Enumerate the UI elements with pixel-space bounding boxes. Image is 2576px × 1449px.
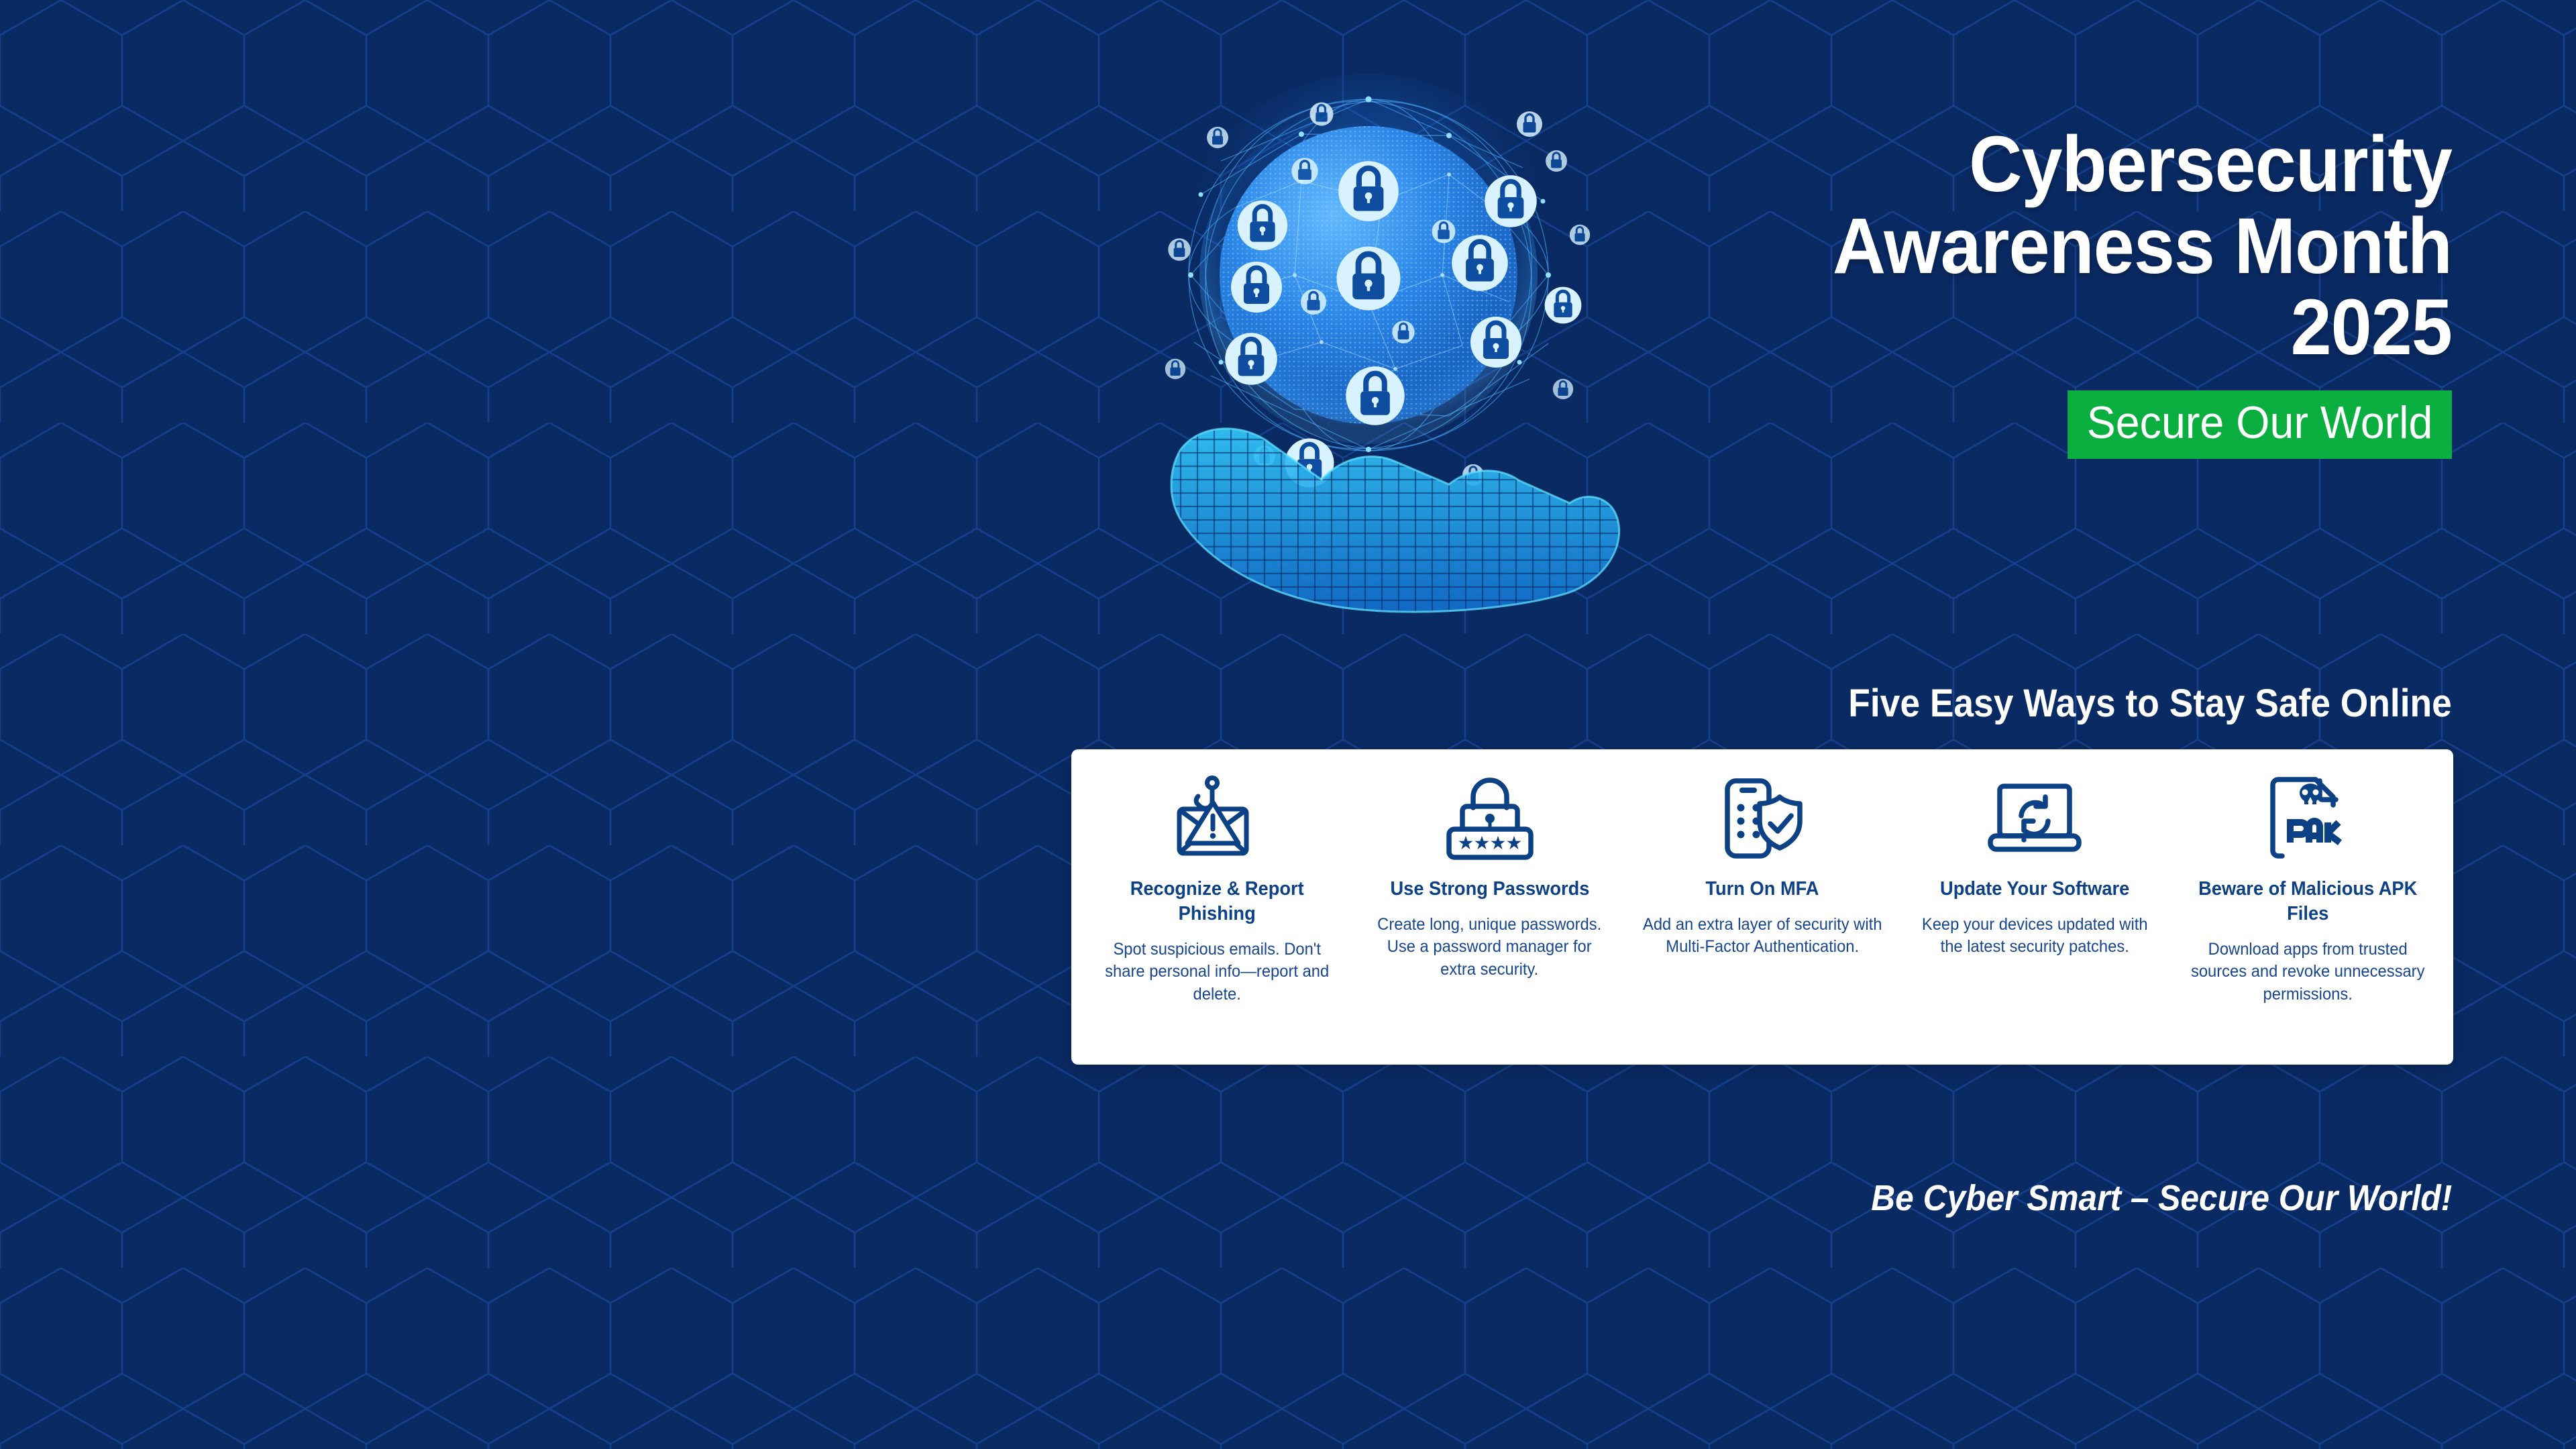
tip-title: Recognize & Report Phishing [1097, 877, 1336, 926]
tip-title: Turn On MFA [1705, 877, 1819, 902]
padlock-password-stars-icon [1446, 768, 1534, 869]
headline-line-1: Cybersecurity [1516, 124, 2452, 206]
phone-shield-check-icon [1718, 768, 1807, 869]
apk-file-skull-icon [2267, 768, 2348, 869]
tips-card: Recognize & Report Phishing Spot suspici… [1071, 749, 2453, 1065]
tip-item-phishing: Recognize & Report Phishing Spot suspici… [1081, 768, 1353, 1051]
headline-line-2: Awareness Month [1516, 206, 2452, 288]
tip-description: Download apps from trusted sources and r… [2187, 938, 2428, 1006]
secure-our-world-badge: Secure Our World [2068, 390, 2452, 459]
tip-description: Create long, unique passwords. Use a pas… [1369, 914, 1610, 981]
phishing-email-warning-icon [1174, 768, 1260, 869]
tip-item-apk: Beware of Malicious APK Files Download a… [2171, 768, 2444, 1051]
tip-description: Keep your devices updated with the lates… [1915, 914, 2155, 959]
headline-line-3: 2025 [1516, 287, 2452, 369]
tip-item-passwords: Use Strong Passwords Create long, unique… [1353, 768, 1625, 1051]
tip-title: Update Your Software [1940, 877, 2129, 902]
tip-description: Add an extra layer of security with Mult… [1642, 914, 1882, 959]
tagline: Be Cyber Smart – Secure Our World! [1871, 1177, 2452, 1219]
tip-item-update-software: Update Your Software Keep your devices u… [1898, 768, 2171, 1051]
tip-title: Use Strong Passwords [1390, 877, 1589, 902]
tip-description: Spot suspicious emails. Don't share pers… [1096, 938, 1337, 1006]
section-title: Five Easy Ways to Stay Safe Online [1848, 681, 2452, 726]
page-title: Cybersecurity Awareness Month 2025 Secur… [1446, 124, 2452, 459]
tip-item-mfa: Turn On MFA Add an extra layer of securi… [1626, 768, 1898, 1051]
laptop-refresh-update-icon [1988, 768, 2082, 869]
tip-title: Beware of Malicious APK Files [2188, 877, 2427, 926]
